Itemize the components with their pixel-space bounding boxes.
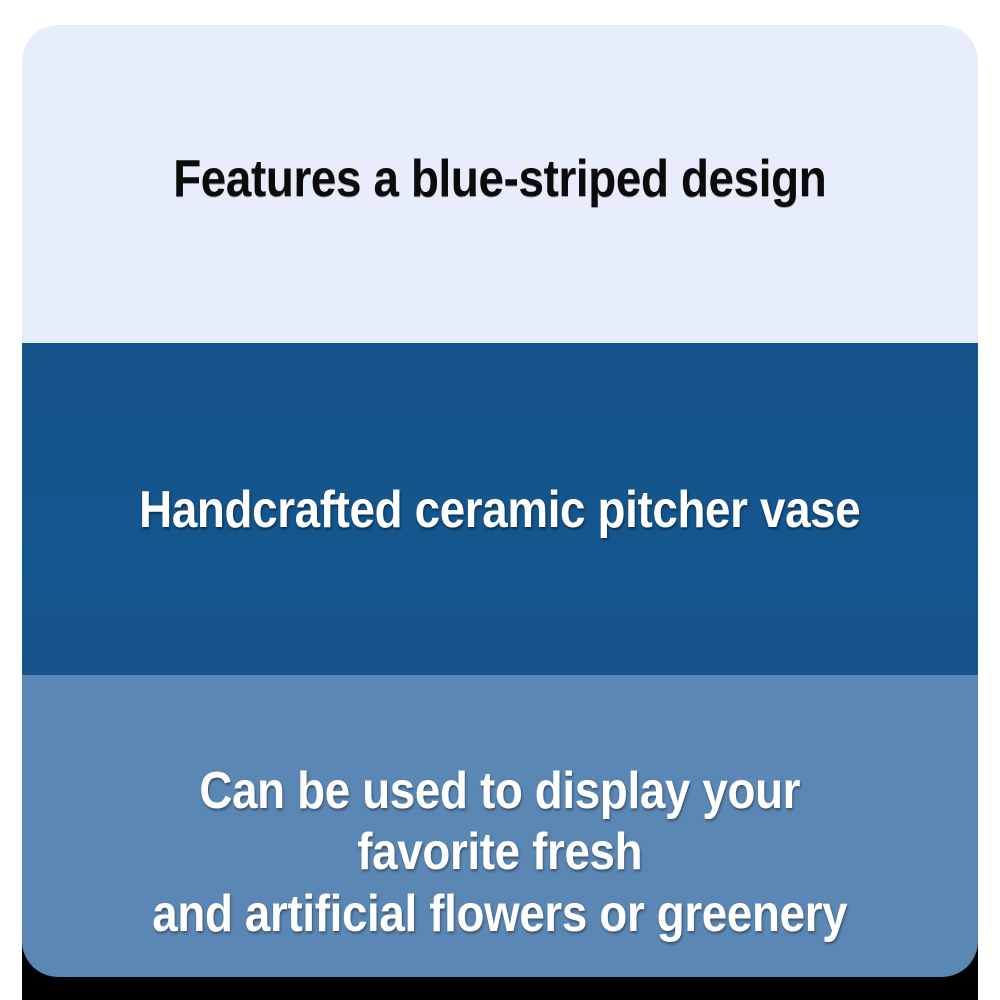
feature-stripe-dark: Handcrafted ceramic pitcher vase [22, 340, 978, 675]
feature-text-design: Features a blue-striped design [113, 149, 887, 209]
feature-stripe-mid: Can be used to display your favorite fre… [22, 675, 978, 977]
screenshot-stage: Features a blue-striped design Handcraft… [0, 0, 1000, 1000]
feature-stripe-light: Features a blue-striped design [22, 25, 978, 340]
feature-text-usage: Can be used to display your favorite fre… [113, 761, 887, 945]
feature-text-product: Handcrafted ceramic pitcher vase [113, 480, 887, 540]
product-feature-card: Features a blue-striped design Handcraft… [22, 25, 978, 977]
